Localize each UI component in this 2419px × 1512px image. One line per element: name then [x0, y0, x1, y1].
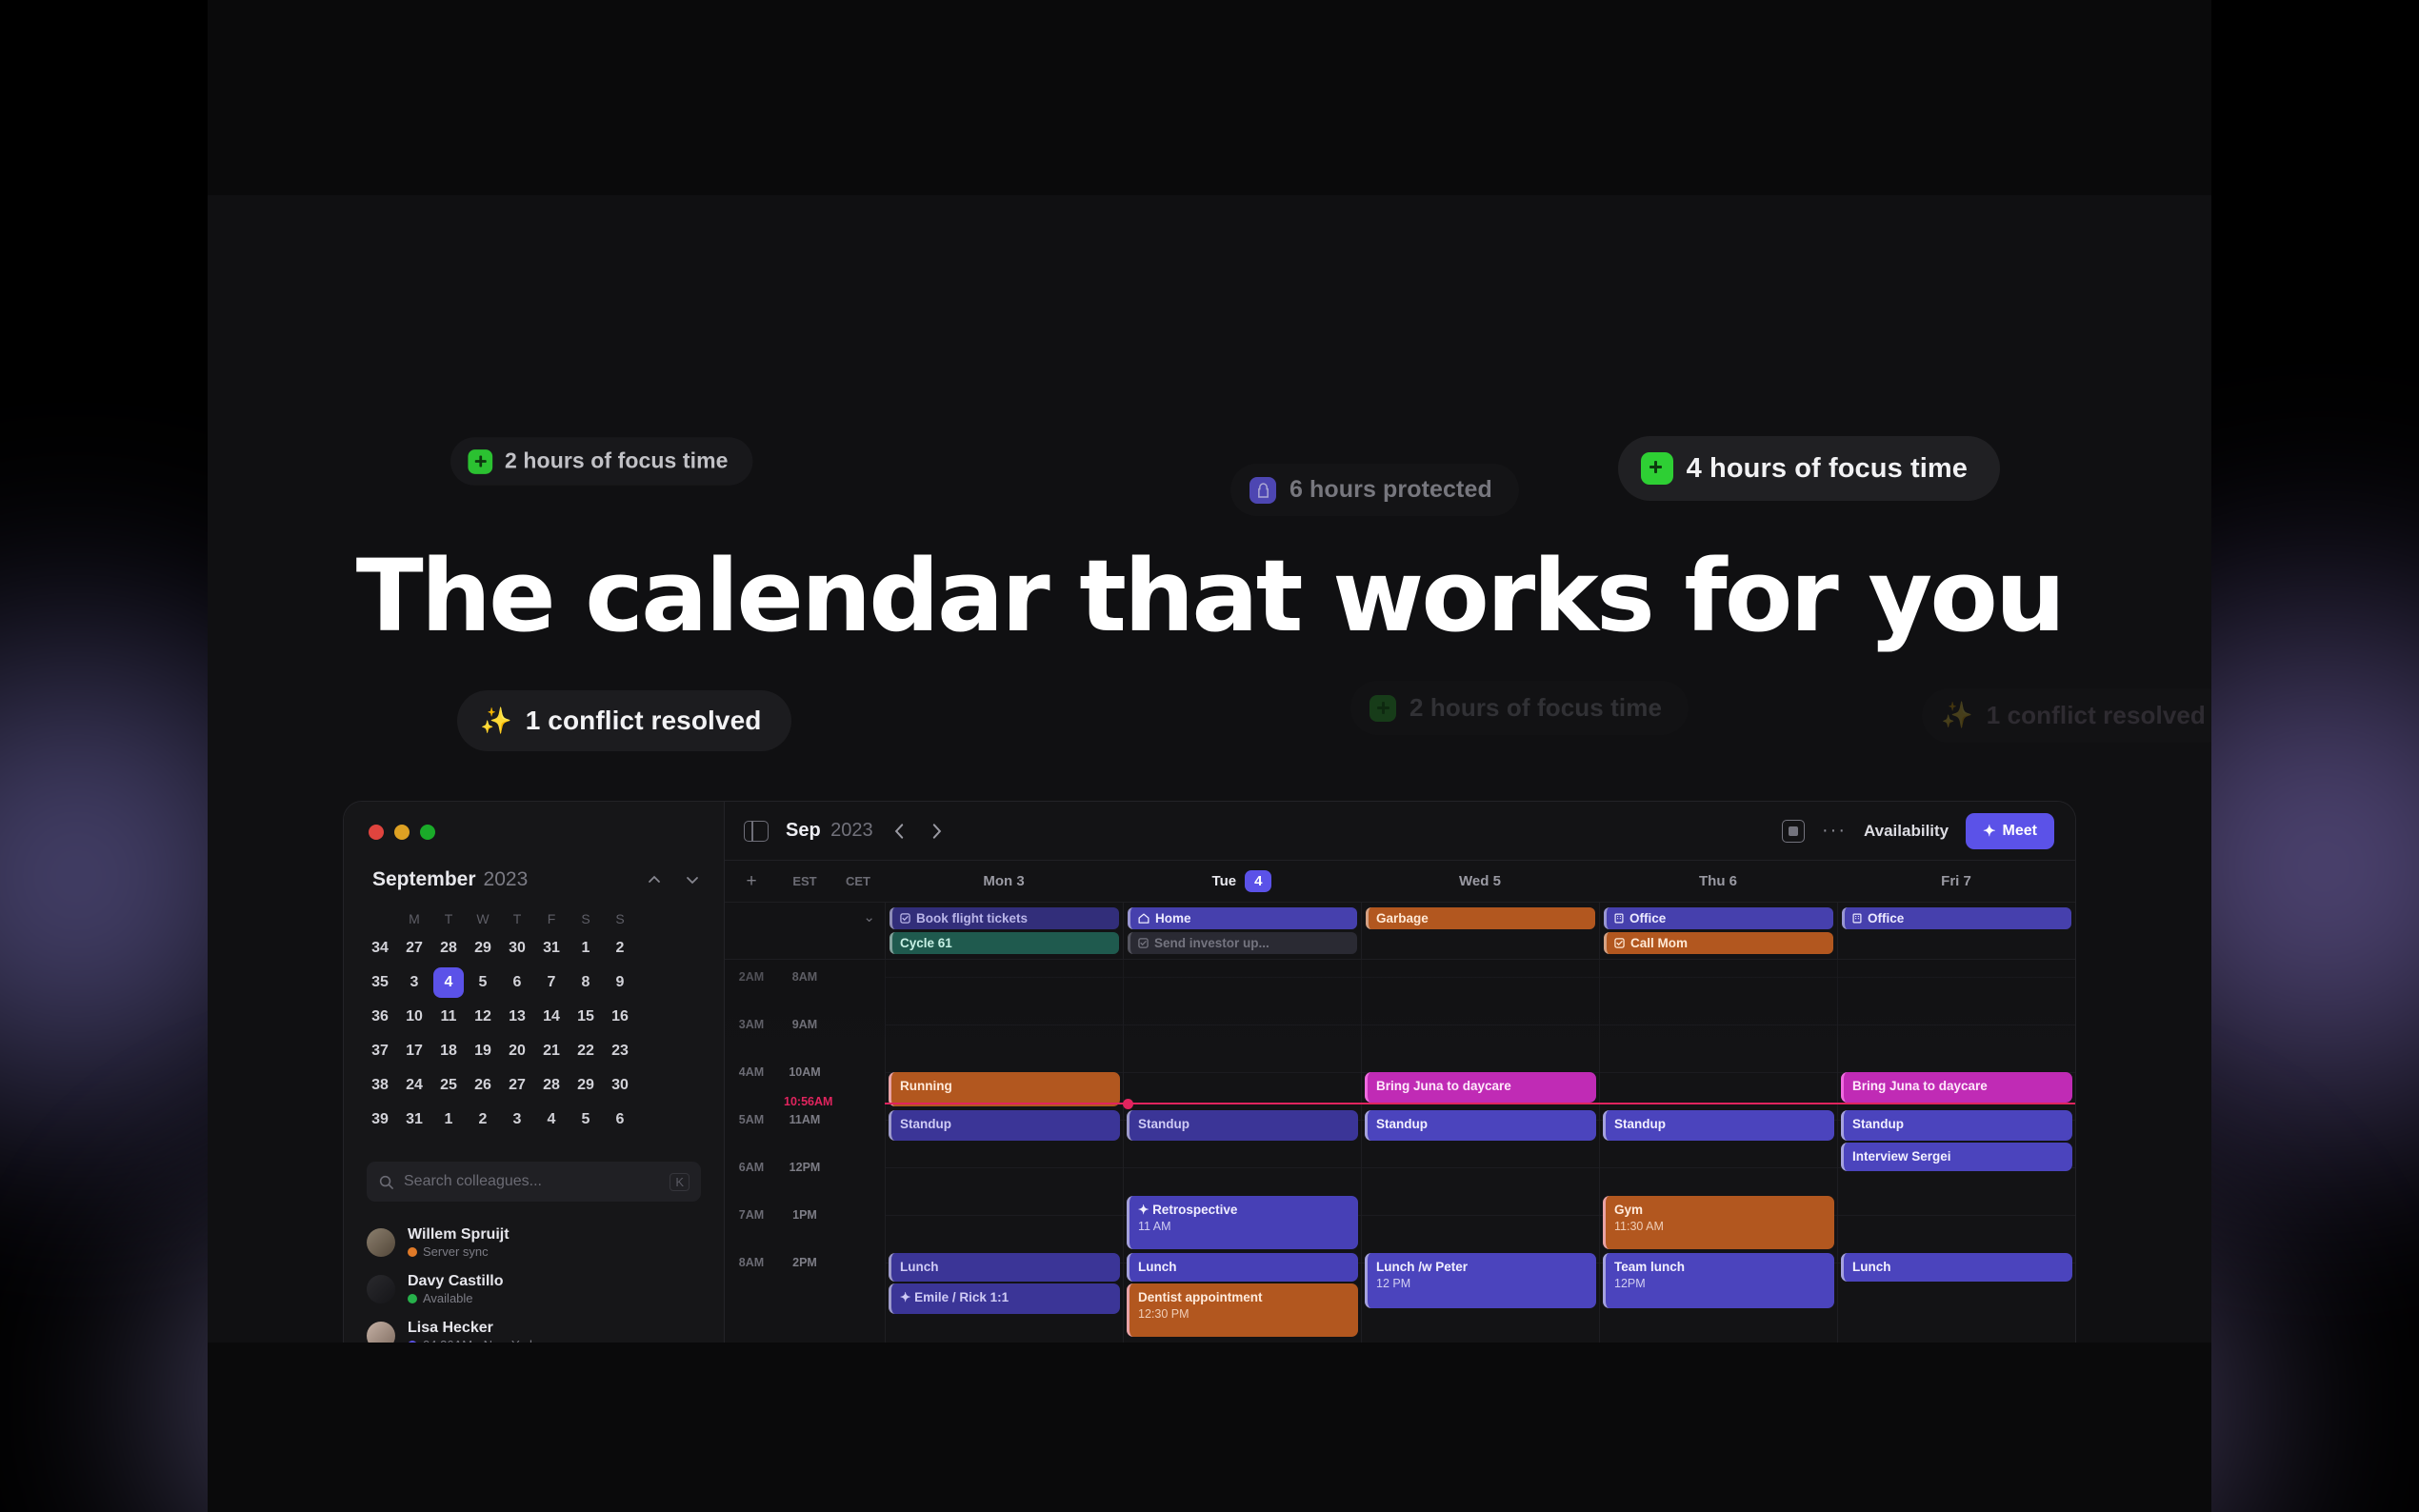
mini-calendar-day[interactable]: 23 [603, 1034, 637, 1068]
hour-gridline [886, 1167, 1123, 1168]
add-timezone-icon[interactable]: + [725, 871, 778, 892]
all-day-event-title: Office [1629, 911, 1666, 925]
square-view-icon[interactable] [1782, 820, 1805, 843]
panel-toggle-icon[interactable] [744, 821, 769, 842]
mini-calendar-day[interactable]: 30 [500, 931, 534, 965]
event-title: Lunch /w Peter [1376, 1259, 1588, 1276]
calendar-event[interactable]: ✦ Emile / Rick 1:1 [889, 1283, 1120, 1314]
time-label-est: 3AM [725, 1018, 778, 1031]
badge-label: 4 hours of focus time [1687, 453, 1968, 485]
mini-calendar-day[interactable]: 15 [569, 1000, 603, 1034]
mini-calendar-day[interactable]: 14 [534, 1000, 569, 1034]
mini-calendar-week: 353456789 [363, 965, 637, 1000]
all-day-event[interactable]: Cycle 61 [890, 932, 1119, 954]
time-label-cet: 9AM [778, 1018, 831, 1031]
hour-gridline [1124, 977, 1361, 978]
mini-calendar-day[interactable]: 16 [603, 1000, 637, 1034]
time-label-cet: 2PM [778, 1256, 831, 1269]
chevron-down-icon[interactable] [684, 871, 701, 888]
mini-calendar-day[interactable]: 30 [603, 1068, 637, 1103]
time-label-cet: 10AM [778, 1065, 831, 1079]
mini-calendar-day[interactable]: 28 [431, 931, 466, 965]
search-placeholder: Search colleagues... [404, 1173, 660, 1190]
badge-conflict-resolved-ghost: ✨ 1 conflict resolved [1922, 688, 2211, 743]
plus-square-green-icon [1641, 452, 1673, 485]
checkbox-icon [900, 913, 910, 924]
mini-calendar-day[interactable]: 19 [466, 1034, 500, 1068]
hour-gridline [1362, 977, 1599, 978]
mini-calendar-weekday: T [431, 906, 466, 931]
mini-calendar-week-number: 39 [363, 1103, 397, 1137]
availability-button[interactable]: Availability [1864, 822, 1949, 841]
time-label-est: 4AM [725, 1065, 778, 1079]
calendar-event[interactable]: Standup [1365, 1110, 1596, 1141]
hour-gridline [886, 1215, 1123, 1216]
mini-calendar-week-number: 37 [363, 1034, 397, 1068]
day-header-today-number: 4 [1245, 870, 1271, 892]
hero-content: 2 hours of focus time 6 hours protected … [208, 195, 2211, 1343]
event-title: Lunch [900, 1259, 1111, 1276]
event-time: 12 PM [1376, 1276, 1588, 1291]
mini-calendar-day[interactable]: 3 [397, 965, 431, 1000]
event-time: 11 AM [1138, 1219, 1349, 1234]
meet-button-label: Meet [2003, 823, 2037, 840]
window-traffic-lights[interactable] [344, 802, 724, 840]
day-header[interactable]: Fri 7 [1837, 870, 2075, 892]
event-title: Bring Juna to daycare [1852, 1078, 2064, 1095]
mini-calendar-day[interactable]: 4 [534, 1103, 569, 1137]
day-columns[interactable]: RunningStandupLunch✦ Emile / Rick 1:1Sta… [885, 960, 2075, 1343]
badge-focus-time-2h-ghost: 2 hours of focus time [1350, 681, 1689, 735]
all-day-event[interactable]: Call Mom [1604, 932, 1833, 954]
avatar [367, 1322, 395, 1343]
lock-indigo-icon [1249, 477, 1276, 504]
mini-calendar-day[interactable]: 6 [500, 965, 534, 1000]
mini-calendar-day[interactable]: 1 [431, 1103, 466, 1137]
event-title: Standup [1376, 1116, 1588, 1133]
search-shortcut-badge: K [670, 1173, 690, 1191]
calendar-event[interactable]: Dentist appointment12:30 PM [1127, 1283, 1358, 1337]
time-label-est: 5AM [725, 1113, 778, 1126]
event-title: Gym [1614, 1202, 1826, 1219]
calendar-event[interactable]: Standup [1841, 1110, 2072, 1141]
time-gutter-row: 6AM12PM [725, 1161, 885, 1174]
list-item[interactable]: Lisa Hecker04:36AM · New York [344, 1312, 724, 1343]
hour-gridline [1600, 1167, 1837, 1168]
person-status: Available [408, 1291, 503, 1305]
chevron-left-icon[interactable] [890, 822, 910, 841]
sparkle-icon: ✨ [480, 708, 512, 734]
mini-calendar-day[interactable]: 12 [466, 1000, 500, 1034]
mini-calendar-weekday: T [500, 906, 534, 931]
mini-calendar-weekday: S [569, 906, 603, 931]
event-time: 12PM [1614, 1276, 1826, 1291]
calendar-event[interactable]: Lunch [1841, 1253, 2072, 1282]
person-status: 04:36AM · New York [408, 1338, 536, 1343]
page-title: The calendar that works for you [208, 538, 2211, 654]
badge-focus-time-2h: 2 hours of focus time [450, 437, 752, 486]
mini-calendar-day[interactable]: 3 [500, 1103, 534, 1137]
badge-label: 1 conflict resolved [1987, 701, 2206, 730]
all-day-column[interactable]: OfficeCall Mom [1599, 903, 1837, 959]
plus-square-green-icon [1369, 695, 1396, 722]
badge-label: 2 hours of focus time [505, 448, 729, 474]
event-title: Lunch [1138, 1259, 1349, 1276]
mini-calendar-day[interactable]: 31 [397, 1103, 431, 1137]
day-column[interactable]: StandupGym11:30 AMTeam lunch12PMCycle pl… [1599, 960, 1837, 1343]
all-day-event[interactable]: Office [1842, 907, 2071, 929]
time-label-cet: 12PM [778, 1161, 831, 1174]
mini-calendar-day[interactable]: 22 [569, 1034, 603, 1068]
person-status-text: Server sync [423, 1244, 489, 1259]
mini-calendar-day[interactable]: 6 [603, 1103, 637, 1137]
time-gutter: 2AM8AM3AM9AM4AM10AM5AM11AM6AM12PM7AM1PM8… [725, 960, 885, 1343]
timezone-est-label: EST [778, 874, 831, 888]
time-label-cet: 11AM [778, 1113, 831, 1126]
event-title: Standup [1138, 1116, 1349, 1133]
mini-calendar-day[interactable]: 5 [466, 965, 500, 1000]
current-time-dot [1123, 1099, 1133, 1109]
mini-calendar-day[interactable]: 27 [500, 1068, 534, 1103]
minimize-icon[interactable] [394, 825, 410, 840]
mini-calendar-header: September 2023 [344, 840, 724, 891]
time-label-est: 2AM [725, 970, 778, 984]
hour-gridline [1362, 1215, 1599, 1216]
event-title: Standup [900, 1116, 1111, 1133]
event-title: Interview Sergei [1852, 1148, 2064, 1165]
calendar-event[interactable]: Standup [889, 1110, 1120, 1141]
colleagues-list: Willem SpruijtServer syncDavy CastilloAv… [344, 1219, 724, 1343]
event-title: ✦ Emile / Rick 1:1 [900, 1289, 1111, 1306]
status-dot [408, 1294, 417, 1303]
all-day-column[interactable]: HomeSend investor up... [1123, 903, 1361, 959]
hour-gridline [1124, 1025, 1361, 1025]
mini-calendar-week: 3931123456 [363, 1103, 637, 1137]
time-gutter-row: 2AM8AM [725, 970, 885, 984]
mini-calendar-month: September [372, 868, 476, 891]
calendar-toolbar: Sep 2023 ··· Availability ✦ Meet [725, 802, 2075, 861]
day-header[interactable]: Thu 6 [1599, 870, 1837, 892]
calendar-event[interactable]: Lunch /w Peter12 PM [1365, 1253, 1596, 1308]
hour-gridline [1362, 1167, 1599, 1168]
chevron-up-icon[interactable] [646, 871, 663, 888]
mini-calendar-day[interactable]: 25 [431, 1068, 466, 1103]
badge-hours-protected: 6 hours protected [1230, 464, 1519, 516]
person-name: Willem Spruijt [408, 1226, 510, 1243]
building-icon [1852, 913, 1862, 924]
time-gutter-row: 4AM10AM [725, 1065, 885, 1079]
day-header-row: + EST CET Mon 3Tue4Wed 5Thu 6Fri 7 [725, 861, 2075, 903]
search-icon [378, 1174, 394, 1190]
all-day-event-title: Book flight tickets [916, 911, 1028, 925]
mini-calendar-day[interactable]: 2 [466, 1103, 500, 1137]
mini-calendar-day[interactable]: 2 [603, 931, 637, 965]
person-status: Server sync [408, 1244, 510, 1259]
all-day-row: ⌄ Book flight ticketsCycle 61HomeSend in… [725, 903, 2075, 960]
event-title: Team lunch [1614, 1259, 1826, 1276]
time-label-est: 8AM [725, 1256, 778, 1269]
time-label-est: 7AM [725, 1208, 778, 1222]
calendar-app-window: September 2023 MTWTFSS 34272829303112353… [343, 801, 2076, 1343]
person-name: Davy Castillo [408, 1273, 503, 1289]
hero-panel: 2 hours of focus time 6 hours protected … [208, 0, 2211, 1512]
mini-calendar-weekday: M [397, 906, 431, 931]
mini-calendar-day[interactable]: 26 [466, 1068, 500, 1103]
toolbar-year: 2023 [830, 820, 873, 841]
time-gutter-row: 7AM1PM [725, 1208, 885, 1222]
hour-gridline [1838, 1025, 2075, 1025]
mini-calendar-day[interactable]: 7 [534, 965, 569, 1000]
sidebar: September 2023 MTWTFSS 34272829303112353… [344, 802, 725, 1343]
status-dot [408, 1247, 417, 1257]
mini-calendar-day[interactable]: 1 [569, 931, 603, 965]
close-icon[interactable] [369, 825, 384, 840]
mini-calendar-weekday: W [466, 906, 500, 931]
mini-calendar-day[interactable]: 31 [534, 931, 569, 965]
mini-calendar-day[interactable]: 10 [397, 1000, 431, 1034]
calendar-event[interactable]: Interview Sergei [1841, 1143, 2072, 1171]
time-label-est: 6AM [725, 1161, 778, 1174]
calendar-event[interactable]: Gym11:30 AM [1603, 1196, 1834, 1249]
mini-calendar-weekday: F [534, 906, 569, 931]
mini-calendar-day[interactable]: 18 [431, 1034, 466, 1068]
calendar-event[interactable]: Standup [1603, 1110, 1834, 1141]
badge-conflict-resolved: ✨ 1 conflict resolved [457, 690, 791, 751]
plus-square-green-icon [468, 449, 492, 474]
mini-calendar-grid[interactable]: MTWTFSS 34272829303112353456789361011121… [363, 906, 637, 1137]
status-dot [408, 1341, 417, 1343]
mini-calendar-day[interactable]: 27 [397, 931, 431, 965]
mini-calendar-day[interactable]: 29 [466, 931, 500, 965]
all-day-event[interactable]: Garbage [1366, 907, 1595, 929]
hour-gridline [1124, 1072, 1361, 1073]
mini-calendar-week: 3610111213141516 [363, 1000, 637, 1034]
person-status-text: 04:36AM · New York [423, 1338, 536, 1343]
sparkle-icon: ✨ [1941, 703, 1973, 728]
day-column[interactable]: Standup✦ Retrospective11 AMLunchDentist … [1123, 960, 1361, 1343]
event-title: ✦ Retrospective [1138, 1202, 1349, 1219]
mini-calendar-day[interactable]: 8 [569, 965, 603, 1000]
hour-gridline [886, 1025, 1123, 1025]
mini-calendar-day[interactable]: 24 [397, 1068, 431, 1103]
event-title: Dentist appointment [1138, 1289, 1349, 1306]
mini-calendar-day[interactable]: 28 [534, 1068, 569, 1103]
hour-gridline [886, 977, 1123, 978]
event-time: 12:30 PM [1138, 1306, 1349, 1322]
checkbox-icon [1138, 938, 1149, 948]
mini-calendar-year: 2023 [484, 868, 529, 891]
hour-gridline [1838, 1215, 2075, 1216]
current-time-line [885, 1103, 2075, 1104]
chevron-right-icon[interactable] [927, 822, 946, 841]
day-header[interactable]: Tue4 [1123, 870, 1361, 892]
person-status-text: Available [423, 1291, 473, 1305]
sparkle-icon: ✦ [1138, 1203, 1152, 1217]
mini-calendar-week-number: 36 [363, 1000, 397, 1034]
day-header[interactable]: Wed 5 [1361, 870, 1599, 892]
all-day-gutter[interactable]: ⌄ [725, 903, 885, 959]
day-header[interactable]: Mon 3 [885, 870, 1123, 892]
person-name: Lisa Hecker [408, 1320, 493, 1336]
sparkle-icon: ✦ [900, 1290, 914, 1304]
event-title: Bring Juna to daycare [1376, 1078, 1588, 1095]
mini-calendar-day[interactable]: 13 [500, 1000, 534, 1034]
all-day-event[interactable]: Send investor up... [1128, 932, 1357, 954]
all-day-event[interactable]: Office [1604, 907, 1833, 929]
mini-calendar-week: 3824252627282930 [363, 1068, 637, 1103]
badge-label: 2 hours of focus time [1409, 693, 1662, 723]
search-colleagues-input[interactable]: Search colleagues... K [367, 1162, 701, 1202]
hour-gridline [1124, 1167, 1361, 1168]
all-day-column[interactable]: Garbage [1361, 903, 1599, 959]
event-time: 11:30 AM [1614, 1219, 1826, 1234]
list-item[interactable]: Willem SpruijtServer sync [344, 1219, 724, 1265]
calendar-event[interactable]: ✦ Retrospective11 AM [1127, 1196, 1358, 1249]
calendar-event[interactable]: Bring Juna to daycare [1841, 1072, 2072, 1103]
zoom-icon[interactable] [420, 825, 435, 840]
day-column[interactable]: RunningStandupLunch✦ Emile / Rick 1:1 [885, 960, 1123, 1343]
meet-button[interactable]: ✦ Meet [1966, 813, 2054, 849]
avatar [367, 1275, 395, 1303]
all-day-event-title: Cycle 61 [900, 936, 952, 950]
all-day-column[interactable]: Office [1837, 903, 2075, 959]
calendar-event[interactable]: Team lunch12PM [1603, 1253, 1834, 1308]
checkbox-icon [1614, 938, 1625, 948]
avatar [367, 1228, 395, 1257]
calendar-event[interactable]: Running [889, 1072, 1120, 1106]
day-column[interactable]: Bring Juna to daycareStandupInterview Se… [1837, 960, 2075, 1343]
mini-calendar-day[interactable]: 4 [431, 965, 466, 1000]
all-day-event-title: Call Mom [1630, 936, 1688, 950]
time-label-cet: 1PM [778, 1208, 831, 1222]
mini-calendar-week-number: 34 [363, 931, 397, 965]
event-title: Lunch [1852, 1259, 2064, 1276]
mini-calendar-day[interactable]: 21 [534, 1034, 569, 1068]
mini-calendar-weekday: S [603, 906, 637, 931]
mini-calendar-day[interactable]: 20 [500, 1034, 534, 1068]
mini-calendar-day[interactable]: 9 [603, 965, 637, 1000]
calendar-grid: 2AM8AM3AM9AM4AM10AM5AM11AM6AM12PM7AM1PM8… [725, 960, 2075, 1343]
time-gutter-row: 5AM11AM [725, 1113, 885, 1126]
current-time-label: 10:56AM [784, 1095, 832, 1108]
badge-focus-time-4h: 4 hours of focus time [1618, 436, 2000, 501]
day-header-label: Tue [1212, 873, 1237, 889]
all-day-event-title: Office [1868, 911, 1904, 925]
time-gutter-row: 3AM9AM [725, 1018, 885, 1031]
hour-gridline [1600, 1072, 1837, 1073]
all-day-event[interactable]: Book flight tickets [890, 907, 1119, 929]
hour-gridline [1362, 1025, 1599, 1025]
calendar-event[interactable]: Standup [1127, 1110, 1358, 1141]
time-label-cet: 8AM [778, 970, 831, 984]
page-root: 2 hours of focus time 6 hours protected … [0, 0, 2419, 1512]
list-item[interactable]: Davy CastilloAvailable [344, 1265, 724, 1312]
calendar-event[interactable]: Lunch [1127, 1253, 1358, 1282]
calendar-main: Sep 2023 ··· Availability ✦ Meet [725, 802, 2075, 1343]
mini-calendar-week-number: 38 [363, 1068, 397, 1103]
timezone-header: + EST CET [725, 871, 885, 892]
mini-calendar-week: 3717181920212223 [363, 1034, 637, 1068]
time-gutter-row: 8AM2PM [725, 1256, 885, 1269]
mini-calendar-week-number: 35 [363, 965, 397, 1000]
badge-label: 1 conflict resolved [526, 706, 762, 736]
all-day-event-title: Send investor up... [1154, 936, 1269, 950]
all-day-event[interactable]: Home [1128, 907, 1357, 929]
event-title: Running [900, 1078, 1111, 1095]
event-title: Standup [1852, 1116, 2064, 1133]
event-title: Standup [1614, 1116, 1826, 1133]
ellipsis-icon[interactable]: ··· [1822, 820, 1847, 842]
mini-calendar-week: 34272829303112 [363, 931, 637, 965]
mini-calendar-day[interactable]: 17 [397, 1034, 431, 1068]
hour-gridline [1600, 1025, 1837, 1025]
badge-label: 6 hours protected [1289, 476, 1492, 504]
day-column[interactable]: Bring Juna to daycareStandupLunch /w Pet… [1361, 960, 1599, 1343]
mini-calendar-day[interactable]: 5 [569, 1103, 603, 1137]
all-day-column[interactable]: Book flight ticketsCycle 61 [885, 903, 1123, 959]
mini-calendar-day[interactable]: 11 [431, 1000, 466, 1034]
calendar-event[interactable]: Lunch [889, 1253, 1120, 1282]
home-icon [1138, 913, 1150, 924]
hour-gridline [1600, 977, 1837, 978]
all-day-event-title: Garbage [1376, 911, 1429, 925]
building-icon [1614, 913, 1624, 924]
hour-gridline [1838, 977, 2075, 978]
calendar-event[interactable]: Bring Juna to daycare [1365, 1072, 1596, 1103]
all-day-event-title: Home [1155, 911, 1191, 925]
toolbar-month: Sep [786, 820, 821, 841]
sparkle-icon: ✦ [1983, 822, 1995, 841]
timezone-cet-label: CET [831, 874, 885, 888]
mini-calendar-day[interactable]: 29 [569, 1068, 603, 1103]
